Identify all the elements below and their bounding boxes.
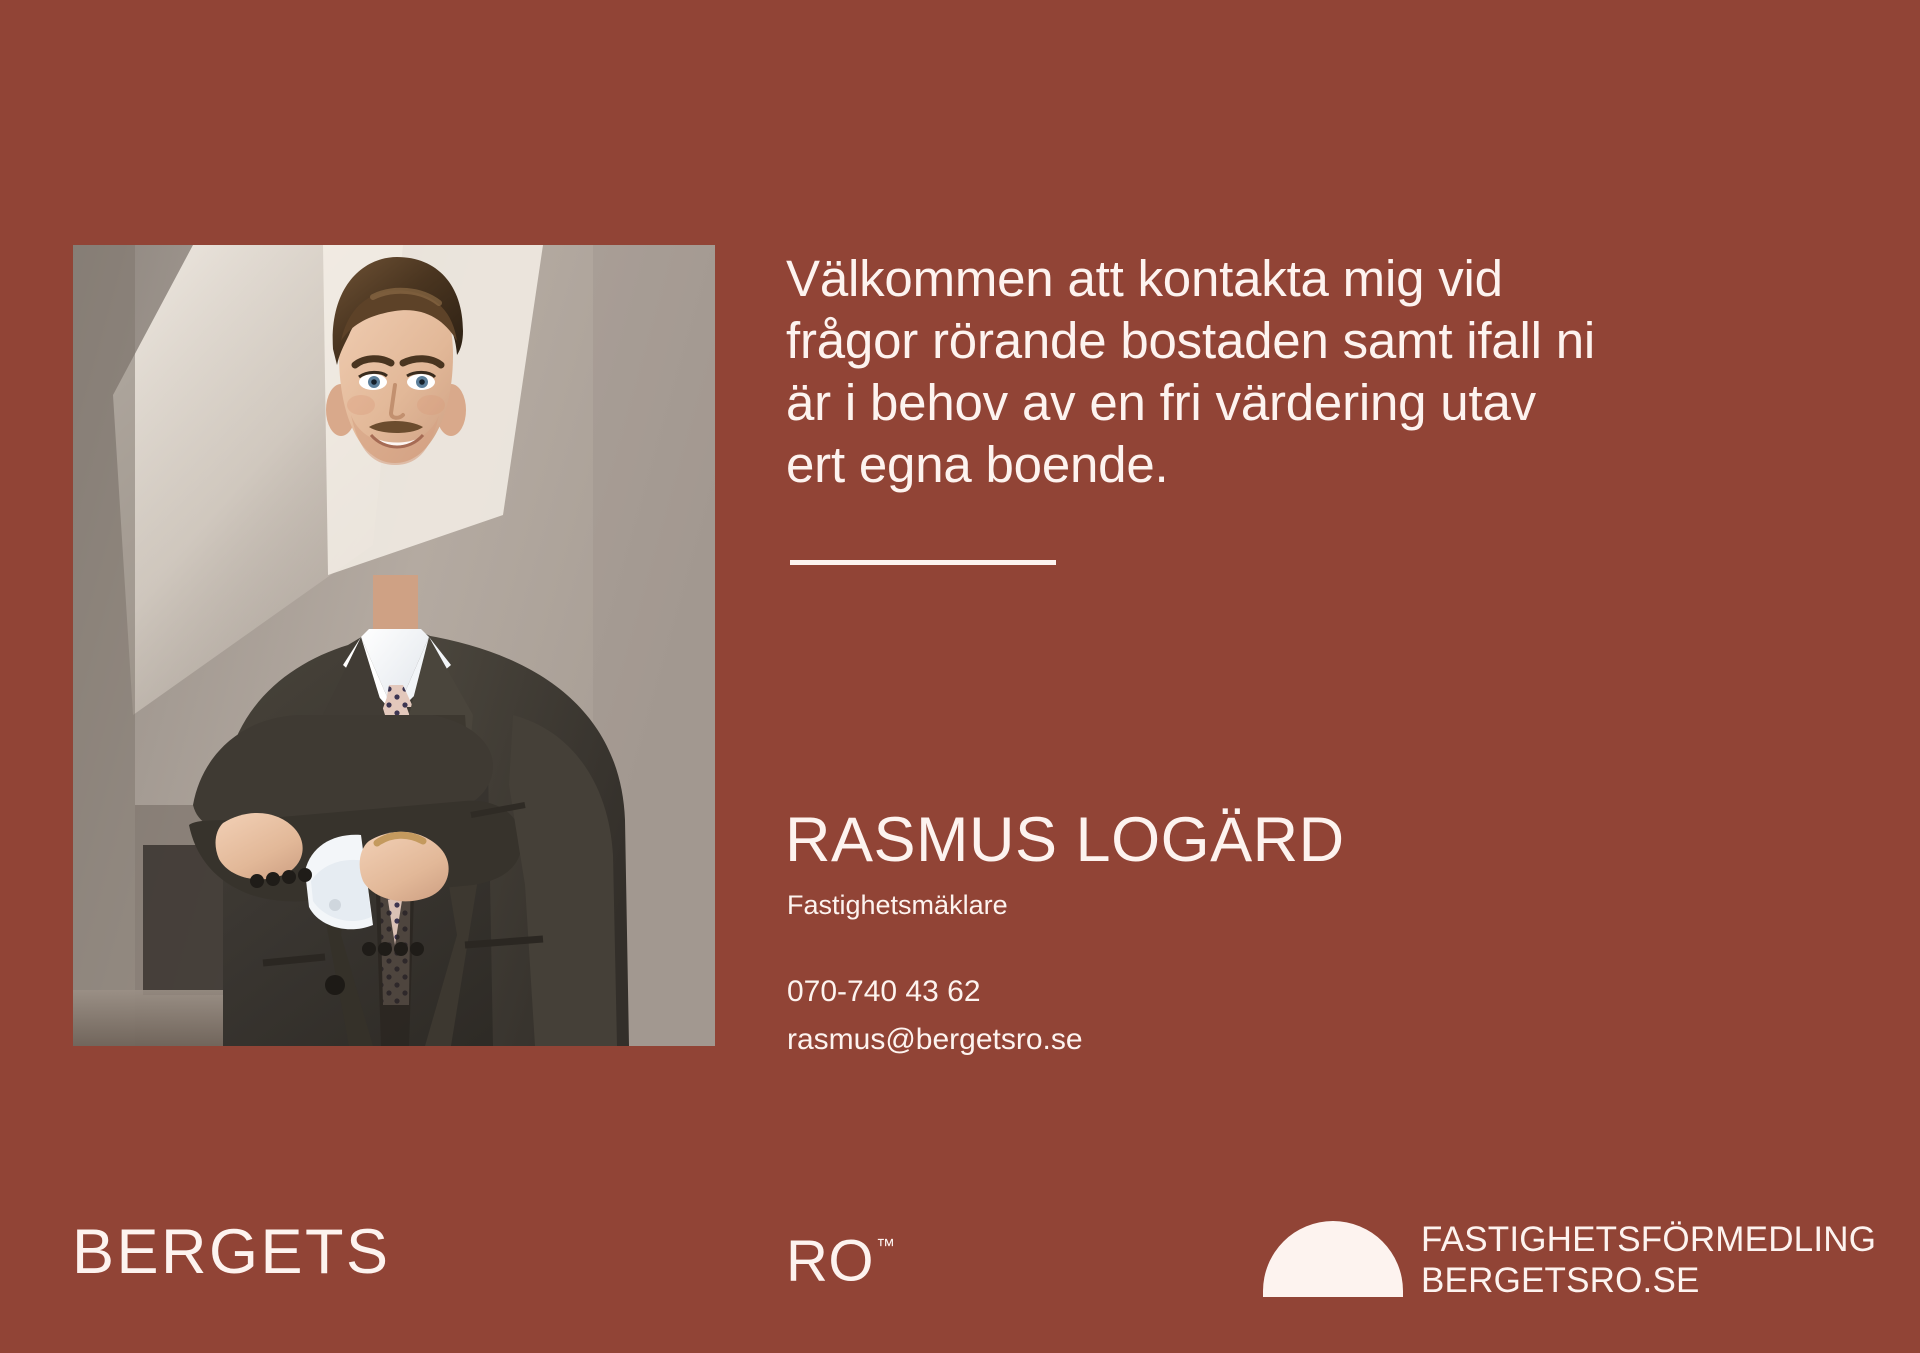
divider-rule xyxy=(790,560,1056,565)
footer-monogram-ro: RO™ xyxy=(786,1222,894,1294)
intro-message-line: Välkommen att kontakta mig vid xyxy=(786,248,1816,310)
agent-contact: 070-740 43 62 rasmus@bergetsro.se xyxy=(787,968,1083,1064)
agent-email[interactable]: rasmus@bergetsro.se xyxy=(787,1016,1083,1064)
trademark-icon: ™ xyxy=(876,1236,896,1257)
footer-monogram-text: RO xyxy=(786,1228,874,1293)
footer-brand-text: FASTIGHETSFÖRMEDLING BERGETSRO.SE xyxy=(1421,1219,1876,1301)
footer-brand-line-2: BERGETSRO.SE xyxy=(1421,1260,1876,1301)
intro-message-line: frågor rörande bostaden samt ifall ni xyxy=(786,310,1816,372)
intro-message-line: ert egna boende. xyxy=(786,434,1816,496)
agent-photo xyxy=(73,245,715,1046)
footer-brand-lockup: FASTIGHETSFÖRMEDLING BERGETSRO.SE xyxy=(1263,1219,1876,1301)
contact-card: Välkommen att kontakta mig vid frågor rö… xyxy=(0,0,1920,1353)
intro-message-line: är i behov av en fri värdering utav xyxy=(786,372,1816,434)
agent-name: RASMUS LOGÄRD xyxy=(785,805,1345,875)
half-dome-icon xyxy=(1263,1221,1403,1297)
agent-phone[interactable]: 070-740 43 62 xyxy=(787,968,1083,1016)
agent-photo-illustration xyxy=(73,245,715,1046)
agent-role: Fastighetsmäklare xyxy=(787,889,1008,921)
intro-message: Välkommen att kontakta mig vid frågor rö… xyxy=(786,248,1816,496)
footer-wordmark-bergets: BERGETS xyxy=(72,1217,391,1287)
footer-brand-line-1: FASTIGHETSFÖRMEDLING xyxy=(1421,1219,1876,1260)
